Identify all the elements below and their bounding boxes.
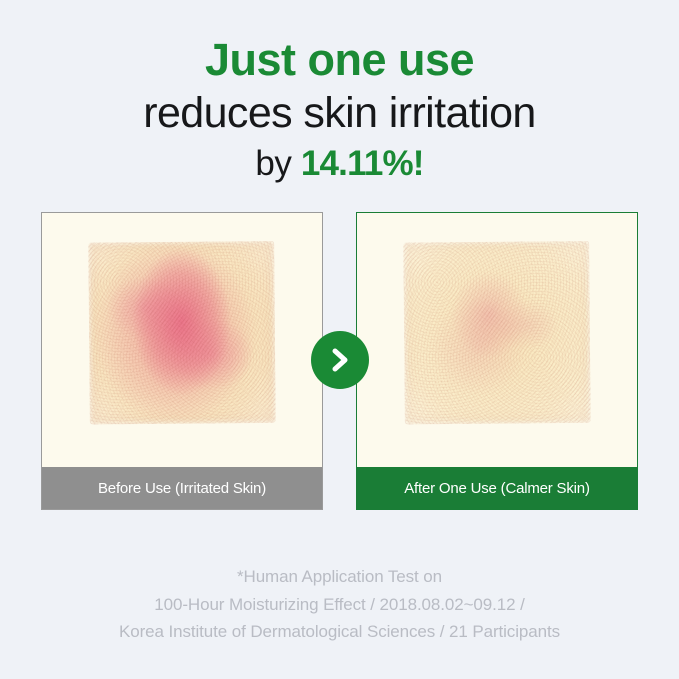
headline-percentage-value: 14.11%! xyxy=(301,144,424,183)
after-panel: After One Use (Calmer Skin) xyxy=(356,212,638,510)
footnote-line-3: Korea Institute of Dermatological Scienc… xyxy=(0,618,679,646)
footnote-block: *Human Application Test on 100-Hour Mois… xyxy=(0,563,679,646)
headline-line-1: Just one use xyxy=(0,34,679,86)
headline-by-label: by xyxy=(255,144,301,183)
headline-line-3: by 14.11%! xyxy=(0,142,679,185)
before-photo xyxy=(42,213,322,467)
headline-line-2: reduces skin irritation xyxy=(0,87,679,139)
after-skin-swatch xyxy=(403,241,591,425)
footnote-line-1: *Human Application Test on xyxy=(0,563,679,591)
after-photo xyxy=(357,213,637,467)
before-panel: Before Use (Irritated Skin) xyxy=(41,212,323,510)
headline-block: Just one use reduces skin irritation by … xyxy=(0,34,679,185)
before-caption: Before Use (Irritated Skin) xyxy=(42,467,322,509)
footnote-line-2: 100-Hour Moisturizing Effect / 2018.08.0… xyxy=(0,591,679,619)
after-caption: After One Use (Calmer Skin) xyxy=(357,467,637,509)
chevron-right-icon xyxy=(311,331,369,389)
before-after-comparison: Before Use (Irritated Skin) After One Us… xyxy=(41,212,638,512)
before-skin-swatch xyxy=(88,241,276,425)
